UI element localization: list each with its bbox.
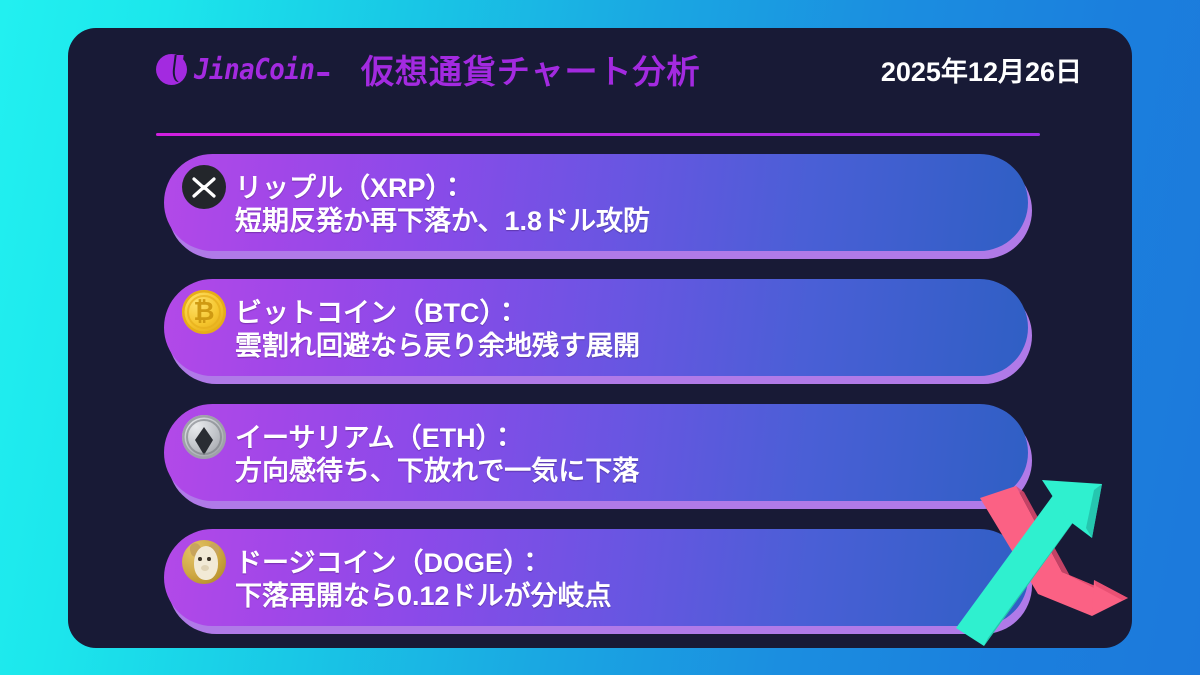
bitcoin-symbol-glyph: ₿ — [193, 299, 214, 325]
coin-title: ビットコイン（BTC）： — [235, 297, 640, 330]
coin-card-doge[interactable]: ドージコイン（DOGE）： 下落再開なら0.12ドルが分岐点 — [164, 529, 1028, 626]
page-title: 仮想通貨チャート分析 — [361, 45, 701, 93]
coin-card-list: リップル（XRP）： 短期反発か再下落か、1.8ドル攻防 ₿ ビットコイン（BT… — [164, 154, 1034, 648]
ethereum-coin-icon — [182, 415, 226, 459]
dogecoin-coin-icon — [182, 540, 226, 584]
coin-card-eth[interactable]: イーサリアム（ETH）： 方向感待ち、下放れで一気に下落 — [164, 404, 1028, 501]
publish-date: 2025年12月26日 — [881, 50, 1098, 89]
header-divider — [156, 133, 1040, 136]
list-item[interactable]: リップル（XRP）： 短期反発か再下落か、1.8ドル攻防 — [164, 154, 1034, 255]
coin-subtitle: 方向感待ち、下放れで一気に下落 — [235, 455, 639, 488]
coin-title: リップル（XRP）： — [235, 172, 650, 205]
header-bar: JinaCoin 仮想通貨チャート分析 2025年12月26日 — [68, 28, 1132, 110]
coin-subtitle: 下落再開なら0.12ドルが分岐点 — [235, 580, 612, 613]
list-item[interactable]: イーサリアム（ETH）： 方向感待ち、下放れで一気に下落 — [164, 404, 1034, 505]
poster-canvas: JinaCoin 仮想通貨チャート分析 2025年12月26日 — [0, 0, 1200, 675]
list-item[interactable]: ドージコイン（DOGE）： 下落再開なら0.12ドルが分岐点 — [164, 529, 1034, 630]
bitcoin-coin-icon: ₿ — [182, 290, 226, 334]
coin-card-btc[interactable]: ₿ ビットコイン（BTC）： 雲割れ回避なら戻り余地残す展開 — [164, 279, 1028, 376]
coin-title: イーサリアム（ETH）： — [235, 422, 639, 455]
card-text: ビットコイン（BTC）： 雲割れ回避なら戻り余地残す展開 — [235, 293, 640, 363]
brand-logo: JinaCoin — [156, 53, 341, 86]
brand-name-text: JinaCoin — [194, 53, 329, 86]
card-text: ドージコイン（DOGE）： 下落再開なら0.12ドルが分岐点 — [235, 543, 612, 613]
coin-card-xrp[interactable]: リップル（XRP）： 短期反発か再下落か、1.8ドル攻防 — [164, 154, 1028, 251]
coin-subtitle: 短期反発か再下落か、1.8ドル攻防 — [235, 205, 650, 238]
coin-subtitle: 雲割れ回避なら戻り余地残す展開 — [235, 330, 640, 363]
card-text: イーサリアム（ETH）： 方向感待ち、下放れで一気に下落 — [235, 418, 639, 488]
content-panel: JinaCoin 仮想通貨チャート分析 2025年12月26日 — [68, 28, 1132, 648]
coin-title: ドージコイン（DOGE）： — [235, 547, 612, 580]
list-item[interactable]: ₿ ビットコイン（BTC）： 雲割れ回避なら戻り余地残す展開 — [164, 279, 1034, 380]
jina-coin-logo-icon — [156, 54, 187, 85]
xrp-coin-icon — [182, 165, 226, 209]
card-text: リップル（XRP）： 短期反発か再下落か、1.8ドル攻防 — [235, 168, 650, 238]
